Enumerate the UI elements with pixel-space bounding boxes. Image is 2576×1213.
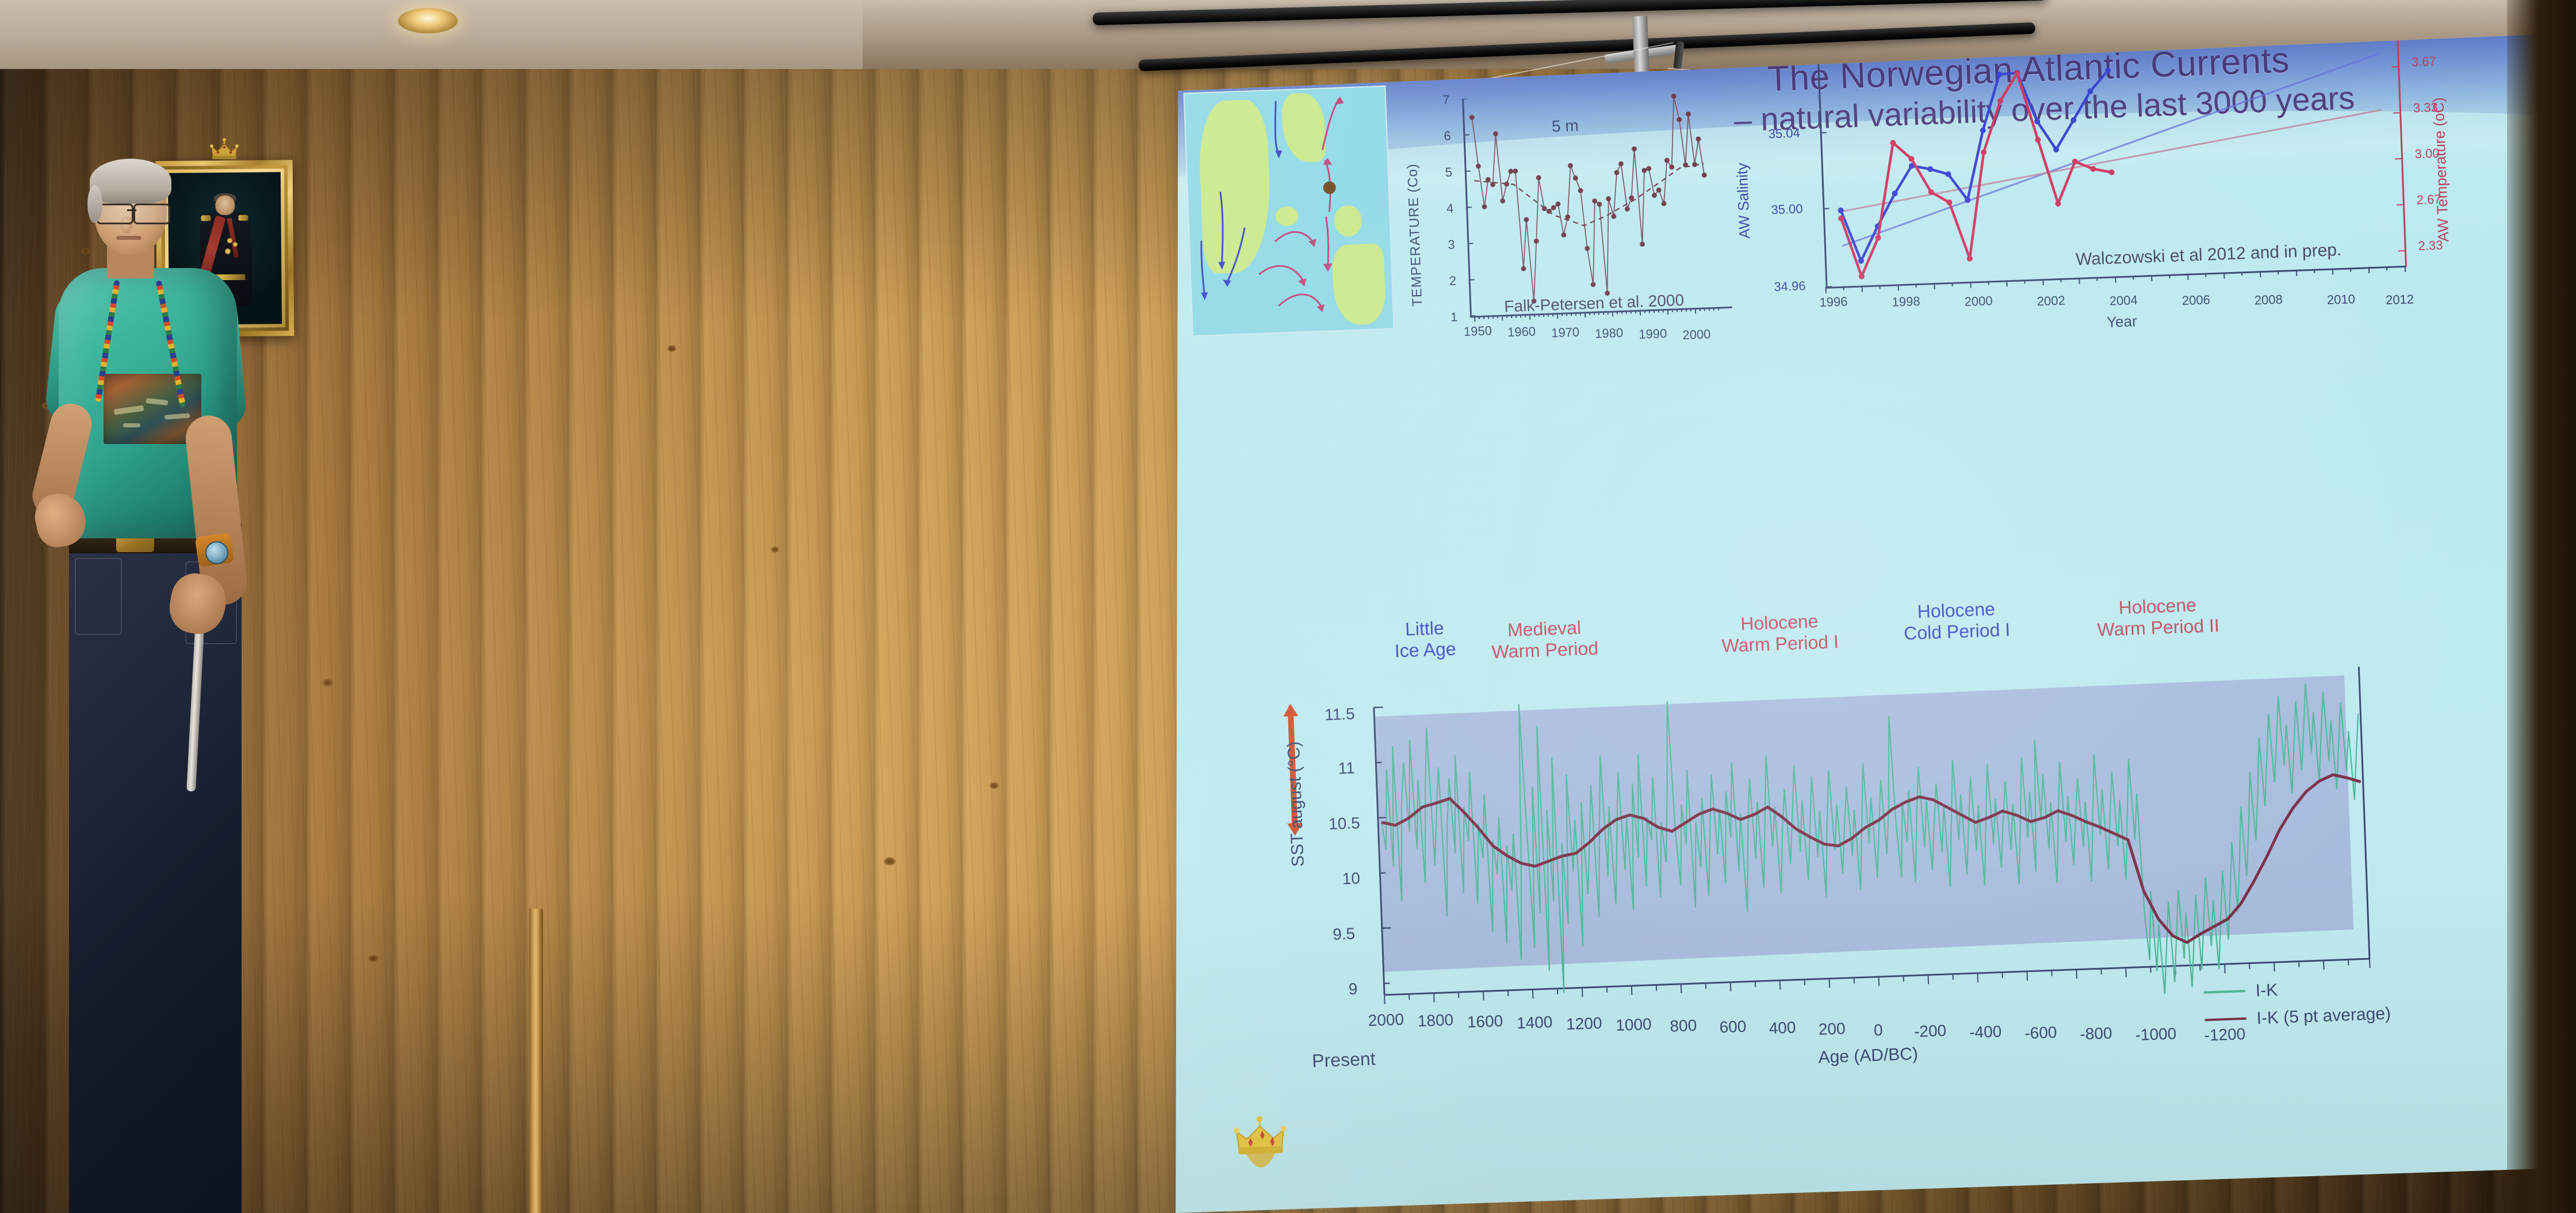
presenter [35,155,265,1213]
screen-wall-bracket [1632,16,1649,74]
eyeglasses-bridge [127,209,136,211]
projection-screen: The Norwegian Atlantic Currents – natura… [1175,23,2576,1213]
presenter-mouth [116,236,141,240]
recessed-ceiling-light-icon [398,8,458,33]
presenter-hair-side [87,185,102,223]
presenter-hair [90,159,171,204]
jeans-pocket [75,558,122,635]
eyeglasses-lens-right [133,204,170,224]
door-frame-trim [529,909,543,1213]
screenshot-root: The Norwegian Atlantic Currents – natura… [0,0,2576,1213]
projection-light-falloff [1175,23,2576,1213]
right-wall-dark-edge [2507,0,2576,1213]
